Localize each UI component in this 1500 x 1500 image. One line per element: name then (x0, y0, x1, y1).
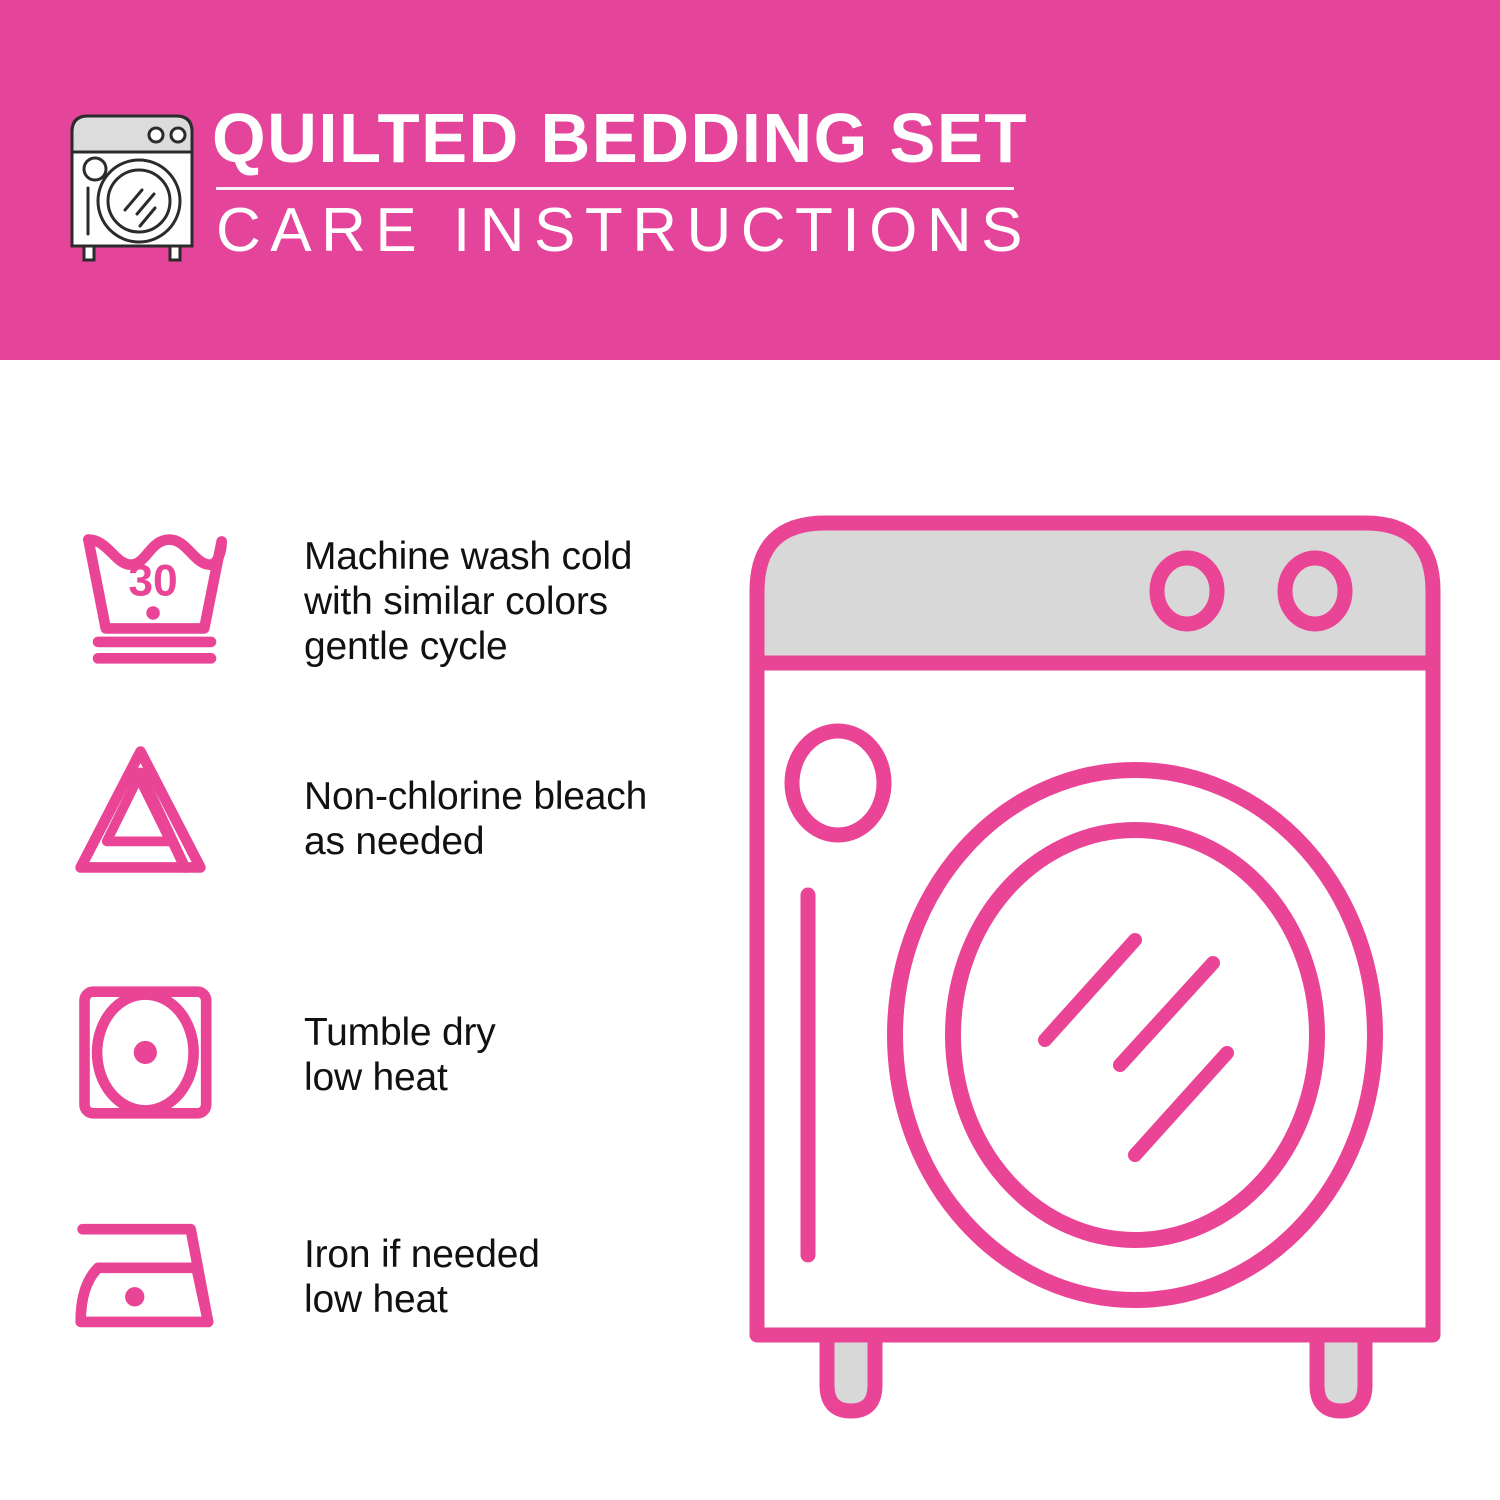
wash-temperature-value: 30 (128, 557, 177, 606)
header-text-block: QUILTED BEDDING SET CARE INSTRUCTIONS (212, 100, 1032, 264)
machine-control-panel (757, 523, 1433, 663)
care-label-iron: Iron if needed low heat (304, 1208, 540, 1322)
wash-basin-30-icon: 30 (72, 528, 238, 668)
machine-drum-slashes (1045, 940, 1227, 1155)
header-banner: QUILTED BEDDING SET CARE INSTRUCTIONS (0, 0, 1500, 360)
care-instructions-list: 30 Machine wash cold with similar colors… (0, 360, 740, 1500)
machine-door-inner-ring (953, 830, 1317, 1240)
care-label-bleach: Non-chlorine bleach as needed (304, 740, 647, 864)
page-title: QUILTED BEDDING SET (212, 100, 1020, 176)
tumble-dry-low-icon (72, 982, 238, 1122)
washing-machine-illustration (735, 495, 1455, 1435)
care-label-machine-wash: Machine wash cold with similar colors ge… (304, 528, 632, 669)
machine-leg-right (1317, 1335, 1365, 1411)
care-label-tumble-dry: Tumble dry low heat (304, 982, 496, 1100)
care-row-machine-wash: 30 Machine wash cold with similar colors… (72, 528, 712, 669)
care-row-iron: Iron if needed low heat (72, 1208, 712, 1348)
bleach-triangle-icon (72, 740, 238, 880)
machine-door-outer-ring (895, 770, 1375, 1300)
care-row-bleach: Non-chlorine bleach as needed (72, 740, 712, 880)
iron-low-heat-icon (72, 1208, 238, 1348)
machine-leg-left (827, 1335, 875, 1411)
machine-dispenser-icon (792, 731, 884, 835)
wash-dot-icon (146, 606, 160, 620)
care-row-tumble-dry: Tumble dry low heat (72, 982, 712, 1122)
page-subtitle: CARE INSTRUCTIONS (212, 198, 1032, 264)
header-divider (216, 187, 1014, 190)
iron-dot-icon (125, 1287, 144, 1306)
washing-machine-logo-icon (62, 104, 202, 264)
tumble-dry-dot-icon (134, 1041, 157, 1064)
